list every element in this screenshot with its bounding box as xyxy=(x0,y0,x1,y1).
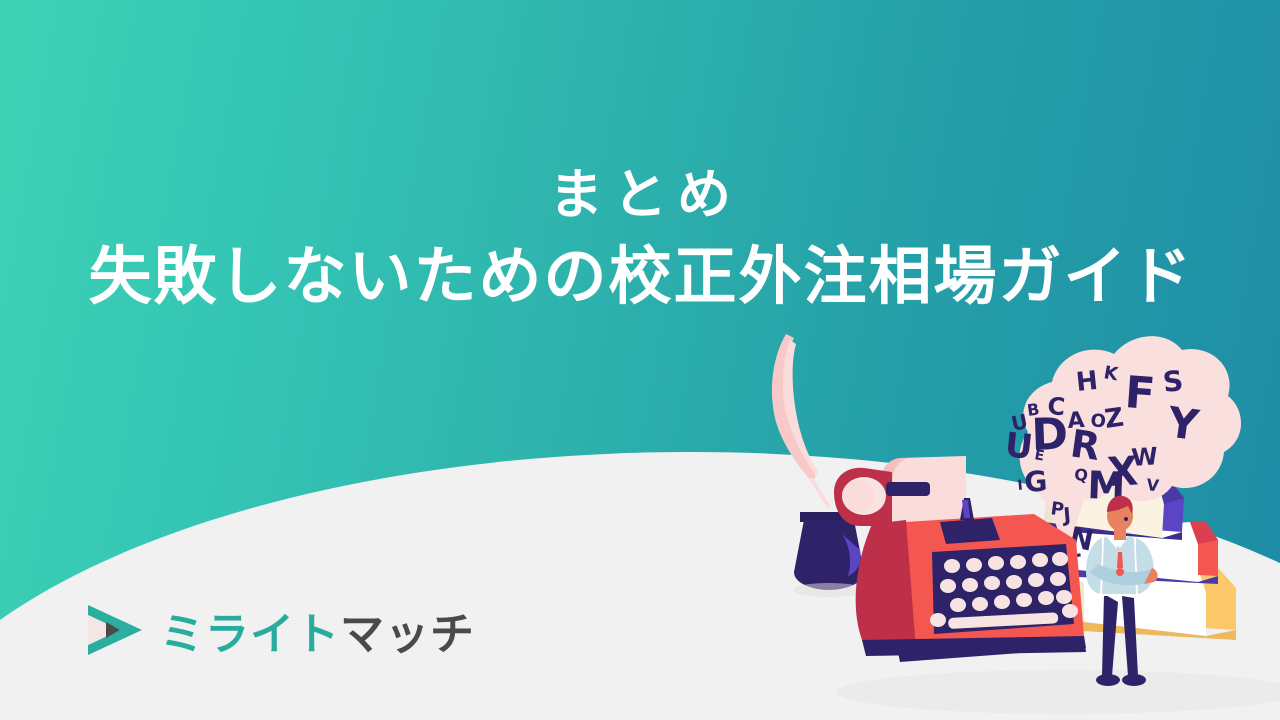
letter-A: A xyxy=(1067,408,1086,434)
illustration-typewriter-books: B U U E I G P J N T C D R A O Q M H K Z xyxy=(766,300,1280,720)
letter-D: D xyxy=(1031,409,1069,461)
ink-pot-with-quill xyxy=(772,334,865,597)
play-arrow-mark-icon xyxy=(84,601,146,659)
letter-I: I xyxy=(1017,478,1024,494)
letter-F: F xyxy=(1123,367,1157,420)
brand-name-secondary: マッチ xyxy=(340,598,475,662)
letter-X: X xyxy=(1106,448,1139,496)
brand-name-primary: ミライト xyxy=(160,598,340,662)
letter-G: G xyxy=(1023,464,1048,499)
letter-U2: U xyxy=(1003,425,1035,468)
brand-logo-text: ミライト マッチ xyxy=(160,598,475,662)
letter-H: H xyxy=(1075,366,1100,398)
letter-S: S xyxy=(1161,364,1185,399)
slide-canvas: まとめ 失敗しないための校正外注相場ガイド xyxy=(0,0,1280,720)
letter-Q: Q xyxy=(1074,465,1089,485)
brand-logo[interactable]: ミライト マッチ xyxy=(84,598,475,662)
